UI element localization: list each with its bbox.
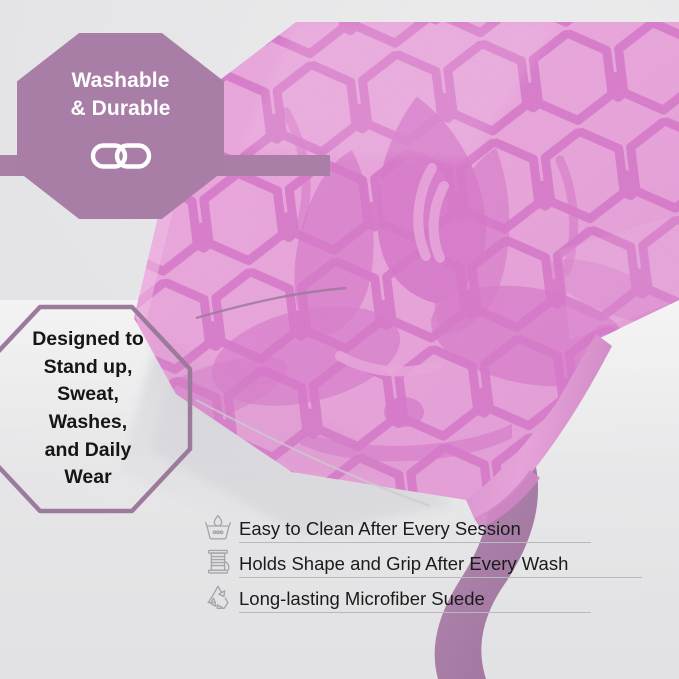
feature-underline: Holds Shape and Grip After Every Wash — [239, 553, 642, 578]
feature-underline: Long-lasting Microfiber Suede — [239, 588, 591, 613]
feature-underline: Easy to Clean After Every Session — [239, 518, 591, 543]
feature-label: Holds Shape and Grip After Every Wash — [239, 553, 568, 574]
callout-text: Designed to Stand up, Sweat, Washes, and… — [4, 329, 172, 489]
chain-link-icon — [90, 139, 152, 173]
designed-to-callout: Designed to Stand up, Sweat, Washes, and… — [0, 303, 194, 515]
wash-basin-icon — [204, 513, 232, 541]
badge-title: Washable & Durable — [70, 67, 170, 122]
thread-spool-icon — [204, 548, 232, 576]
recycle-icon — [204, 583, 232, 611]
feature-label: Easy to Clean After Every Session — [239, 518, 521, 539]
feature-row: Long-lasting Microfiber Suede — [204, 578, 644, 613]
feature-label: Long-lasting Microfiber Suede — [239, 588, 485, 609]
feature-row: Easy to Clean After Every Session — [204, 508, 644, 543]
feature-list: Easy to Clean After Every Session Holds … — [204, 508, 644, 613]
washable-durable-badge: Washable & Durable — [17, 33, 224, 219]
feature-row: Holds Shape and Grip After Every Wash — [204, 543, 644, 578]
product-infographic: Washable & Durable Designed to Stand up,… — [0, 0, 679, 679]
